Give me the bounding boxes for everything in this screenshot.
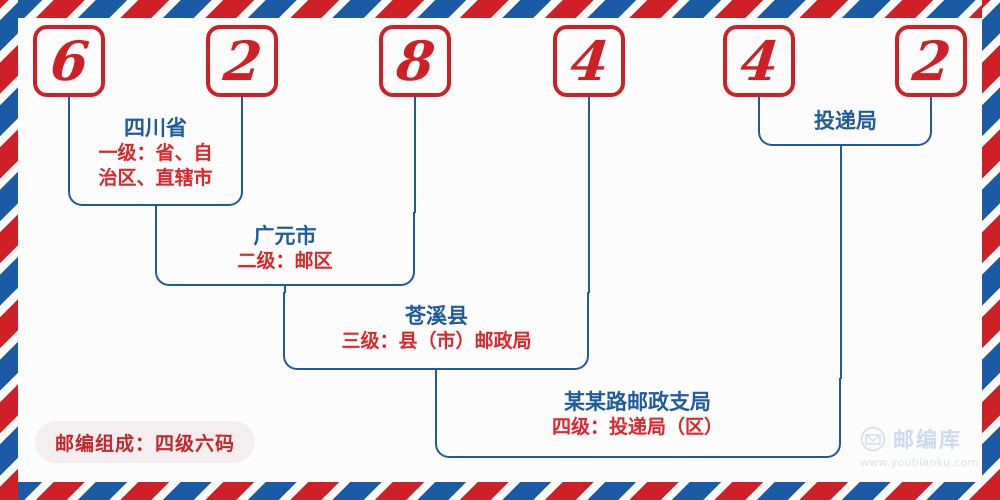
label-delivery-office-name: 投递局 bbox=[768, 108, 923, 134]
label-level-3: 苍溪县 三级：县（市）邮政局 bbox=[294, 303, 579, 354]
digit-box-2[interactable]: 2 bbox=[206, 25, 278, 97]
label-level-1-name: 四川省 bbox=[78, 115, 233, 141]
label-level-3-name: 苍溪县 bbox=[294, 303, 579, 329]
stem-digit-6 bbox=[930, 97, 932, 115]
stem-digit-3 bbox=[414, 97, 416, 213]
airmail-border-left bbox=[0, 0, 18, 500]
airmail-border-bottom bbox=[0, 482, 1000, 500]
label-level-2: 广元市 二级：邮区 bbox=[165, 223, 405, 274]
digit-box-4[interactable]: 4 bbox=[553, 25, 625, 97]
airmail-border-top bbox=[0, 0, 1000, 18]
watermark-title: 邮编库 bbox=[893, 424, 962, 454]
stem-delivery-office bbox=[840, 145, 842, 379]
digit-value-5: 4 bbox=[738, 34, 780, 88]
digit-value-6: 2 bbox=[910, 34, 952, 88]
label-level-3-desc: 三级：县（市）邮政局 bbox=[294, 329, 579, 354]
label-level-2-name: 广元市 bbox=[165, 223, 405, 249]
postcode-diagram: 6 2 8 4 4 2 四川省 一级：省、自 治区、直辖市 广元市 二级：邮区 … bbox=[0, 0, 1000, 500]
digit-value-2: 2 bbox=[221, 34, 263, 88]
postcode-composition-badge: 邮编组成：四级六码 bbox=[35, 421, 255, 463]
stem-digit-5 bbox=[758, 97, 760, 115]
stem-digit-1 bbox=[68, 97, 70, 113]
label-level-1-desc-line1: 一级：省、自 bbox=[78, 141, 233, 166]
label-level-4: 某某路邮政支局 四级：投递局（区） bbox=[445, 389, 830, 440]
label-level-2-desc: 二级：邮区 bbox=[165, 249, 405, 274]
digit-box-1[interactable]: 6 bbox=[33, 25, 105, 97]
digit-box-5[interactable]: 4 bbox=[723, 25, 795, 97]
label-level-4-name: 某某路邮政支局 bbox=[445, 389, 830, 415]
watermark-url: www.youbianku.com bbox=[860, 456, 979, 469]
label-delivery-office: 投递局 bbox=[768, 108, 923, 134]
label-level-1-desc-line2: 治区、直辖市 bbox=[78, 166, 233, 191]
label-level-1: 四川省 一级：省、自 治区、直辖市 bbox=[78, 115, 233, 191]
digit-box-6[interactable]: 2 bbox=[895, 25, 967, 97]
label-level-4-desc: 四级：投递局（区） bbox=[445, 415, 830, 440]
digit-value-1: 6 bbox=[48, 34, 90, 88]
airmail-border-right bbox=[982, 0, 1000, 500]
stem-digit-2 bbox=[241, 97, 243, 113]
digit-value-3: 8 bbox=[394, 34, 436, 88]
postcode-composition-text: 邮编组成：四级六码 bbox=[55, 429, 235, 456]
digit-box-3[interactable]: 8 bbox=[379, 25, 451, 97]
watermark: 邮编库 www.youbianku.com bbox=[860, 424, 979, 469]
digit-value-4: 4 bbox=[568, 34, 610, 88]
stem-digit-4 bbox=[588, 97, 590, 293]
envelope-circle-icon bbox=[860, 426, 886, 452]
